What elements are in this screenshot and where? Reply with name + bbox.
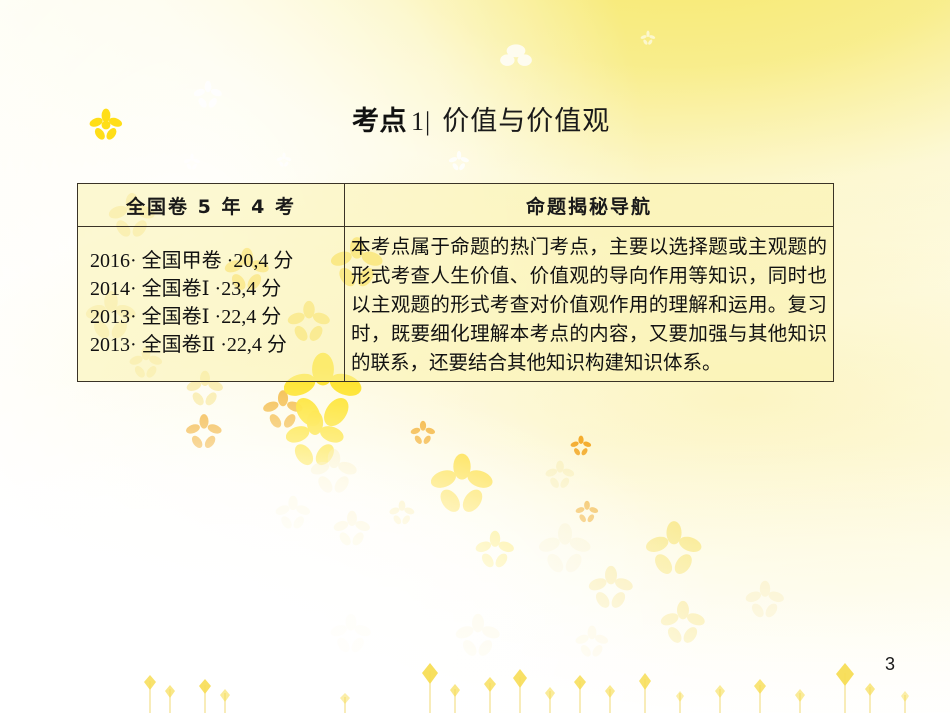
table-header-cell-right: 命题揭秘导航 [345,184,833,226]
sparkle-icon [640,30,656,46]
flower-icon [89,108,123,142]
flower-icon [275,495,311,531]
flower-icon [538,522,592,576]
table-header-row: 全国卷 5 年 4 考 命题揭秘导航 [78,184,833,227]
list-item: 2016· 全国甲卷 ·20,4 分 [90,247,344,275]
list-item: 2014· 全国卷Ⅰ ·23,4 分 [90,275,344,303]
page-number: 3 [885,654,895,675]
flower-icon [410,420,436,446]
flower-icon [310,448,358,496]
flower-icon [570,435,592,457]
flower-icon [475,530,515,570]
navigation-paragraph: 本考点属于命题的热门考点，主要以选择题或主观题的形式考查人生价值、价值观的导向作… [351,232,827,377]
flower-icon [575,625,609,659]
flower-icon [333,510,371,548]
page-title: 考点 1 | 价值与价值观 [352,99,610,138]
flower-icon [286,410,344,468]
flower-icon [185,413,223,451]
list-item: 2013· 全国卷Ⅰ ·22,4 分 [90,303,344,331]
table-header-left-label: 全国卷 5 年 4 考 [126,192,296,219]
page-title-number: 1 [411,107,424,137]
flower-icon [745,580,785,620]
table-header-cell-left: 全国卷 5 年 4 考 [78,184,345,226]
sparkle-icon [494,40,538,76]
flower-icon [455,613,501,659]
page-title-separator: | [425,107,430,137]
table-body-cell-right: 本考点属于命题的热门考点，主要以选择题或主观题的形式考查人生价值、价值观的导向作… [345,227,833,381]
exam-summary-table: 全国卷 5 年 4 考 命题揭秘导航 2016· 全国甲卷 ·20,4 分 20… [77,183,834,382]
flower-icon [588,565,634,611]
sparkle-icon [183,153,201,171]
page-title-prefix: 考点 [352,99,407,138]
sparkle-icon [276,152,292,168]
flower-icon [545,460,575,490]
exam-list: 2016· 全国甲卷 ·20,4 分 2014· 全国卷Ⅰ ·23,4 分 20… [78,247,344,359]
table-header-right-label: 命题揭秘导航 [526,192,652,219]
sparkle-icon [448,150,470,172]
slide-canvas: 考点 1 | 价值与价值观 全国卷 5 年 4 考 命题揭秘导航 2016· 全… [0,0,950,713]
list-item: 2013· 全国卷Ⅱ ·22,4 分 [90,331,344,359]
page-title-text: 价值与价值观 [442,99,610,138]
flower-icon [575,500,599,524]
table-body-row: 2016· 全国甲卷 ·20,4 分 2014· 全国卷Ⅰ ·23,4 分 20… [78,227,833,381]
bottom-border-decoration [0,659,950,713]
flower-icon [645,520,703,578]
flower-icon [431,453,493,515]
flower-icon [330,613,372,655]
star-flower-icon [193,80,223,110]
flower-icon [389,500,415,526]
flower-icon [660,600,706,646]
flower-icon [262,389,304,431]
table-body-cell-left: 2016· 全国甲卷 ·20,4 分 2014· 全国卷Ⅰ ·23,4 分 20… [78,227,345,381]
